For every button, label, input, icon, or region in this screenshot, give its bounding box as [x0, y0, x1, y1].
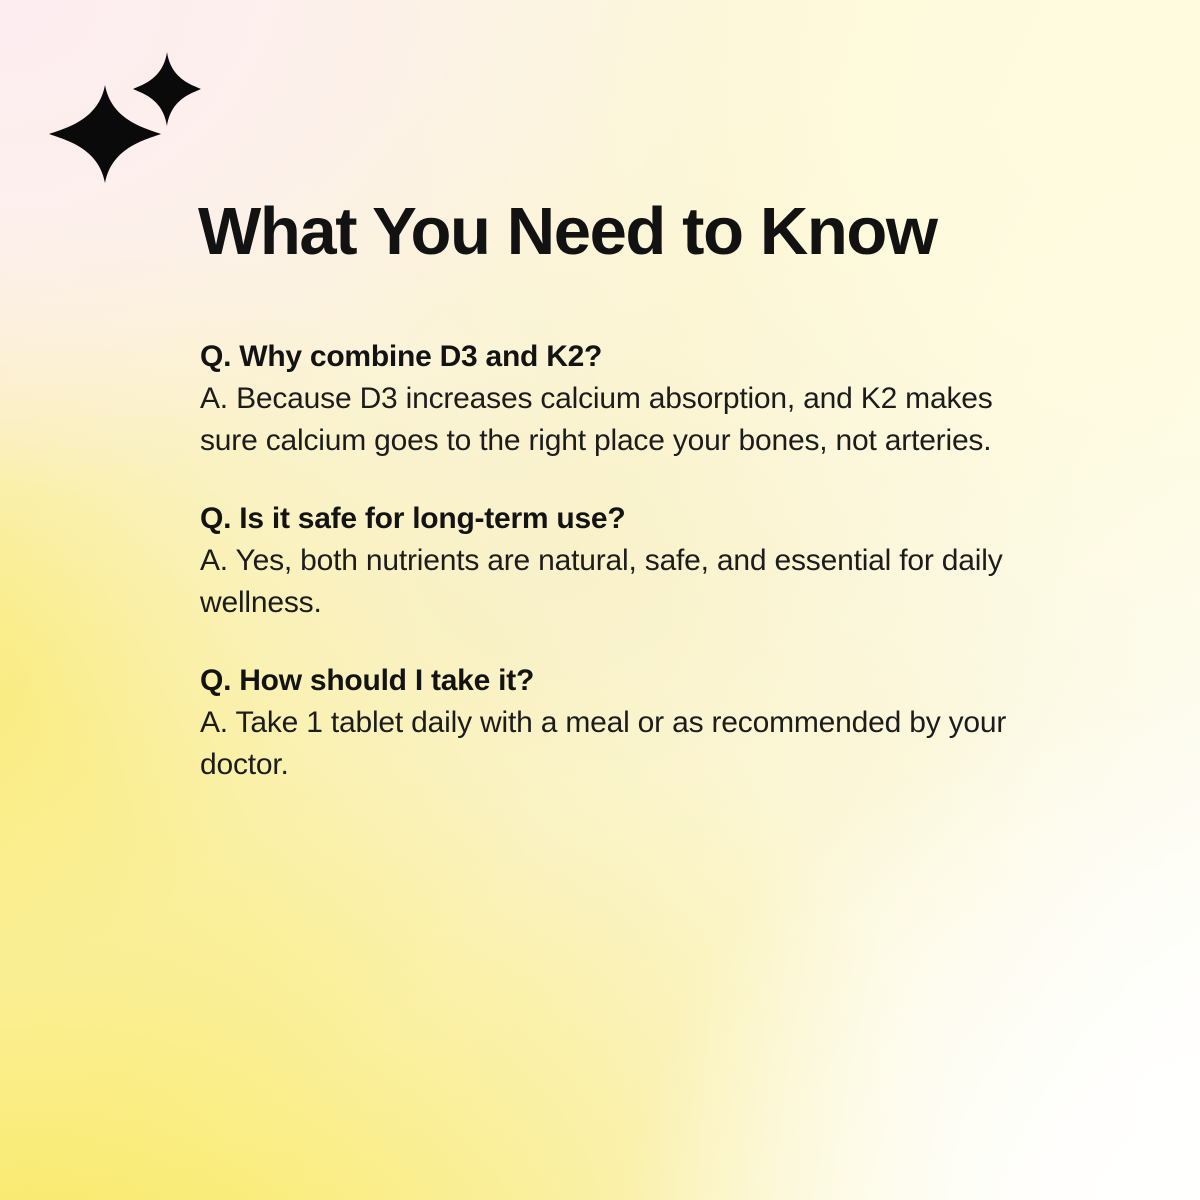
- page-title: What You Need to Know: [198, 198, 937, 265]
- faq-question: Q. Is it safe for long-term use?: [200, 498, 1070, 540]
- faq-item: Q. Is it safe for long-term use? A. Yes,…: [200, 498, 1070, 624]
- sparkle-small-icon: [133, 52, 201, 126]
- faq-list: Q. Why combine D3 and K2? A. Because D3 …: [200, 336, 1070, 786]
- faq-item: Q. How should I take it? A. Take 1 table…: [200, 660, 1070, 786]
- faq-answer: A. Take 1 tablet daily with a meal or as…: [200, 702, 1055, 786]
- faq-item: Q. Why combine D3 and K2? A. Because D3 …: [200, 336, 1070, 462]
- faq-question: Q. Why combine D3 and K2?: [200, 336, 1070, 378]
- faq-answer: A. Yes, both nutrients are natural, safe…: [200, 540, 1055, 624]
- faq-answer: A. Because D3 increases calcium absorpti…: [200, 378, 1055, 462]
- poster-canvas: What You Need to Know Q. Why combine D3 …: [0, 0, 1200, 1200]
- sparkle-large-icon: [49, 85, 161, 183]
- faq-question: Q. How should I take it?: [200, 660, 1070, 702]
